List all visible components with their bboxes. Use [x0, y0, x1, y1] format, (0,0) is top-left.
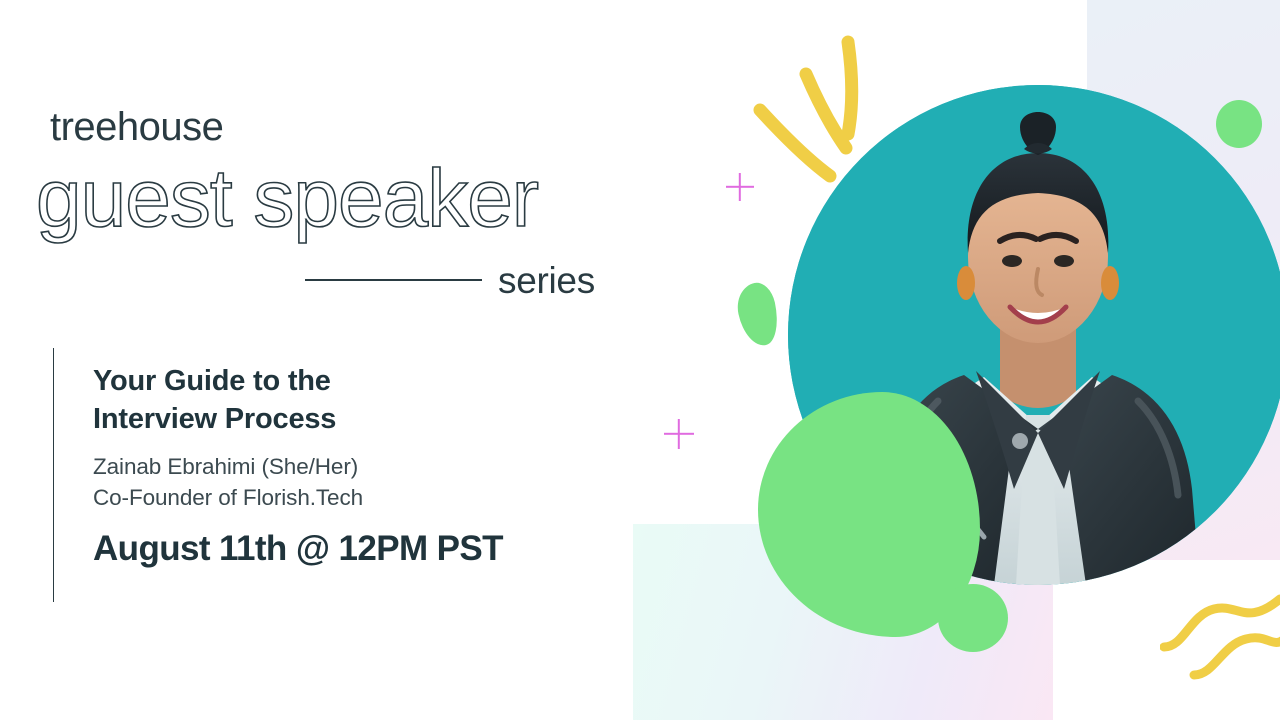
green-blob-icon-dot [938, 584, 1008, 652]
speaker-role: Co-Founder of Florish.Tech [93, 482, 613, 513]
event-title-line1: Your Guide to the [93, 362, 613, 400]
event-datetime: August 11th @ 12PM PST [93, 530, 613, 569]
green-blob-icon-small [733, 280, 783, 350]
speaker-info: Zainab Ebrahimi (She/Her) Co-Founder of … [93, 451, 613, 513]
series-label: series [498, 262, 595, 299]
event-details: Your Guide to the Interview Process Zain… [53, 348, 613, 602]
guest-speaker-slide: treehouse guest speaker series Your Guid… [0, 0, 1280, 720]
page-title: guest speaker [36, 156, 538, 242]
plus-icon-upper [726, 173, 754, 201]
plus-icon-lower [664, 419, 694, 449]
event-title-line2: Interview Process [93, 400, 613, 438]
series-row: series [305, 255, 625, 305]
divider [305, 279, 482, 281]
wavy-lines-icon [1160, 575, 1280, 690]
speaker-name: Zainab Ebrahimi (She/Her) [93, 451, 613, 482]
event-title: Your Guide to the Interview Process [93, 362, 613, 439]
brand-wordmark: treehouse [50, 107, 223, 147]
green-blob-icon-topright [1216, 100, 1262, 148]
